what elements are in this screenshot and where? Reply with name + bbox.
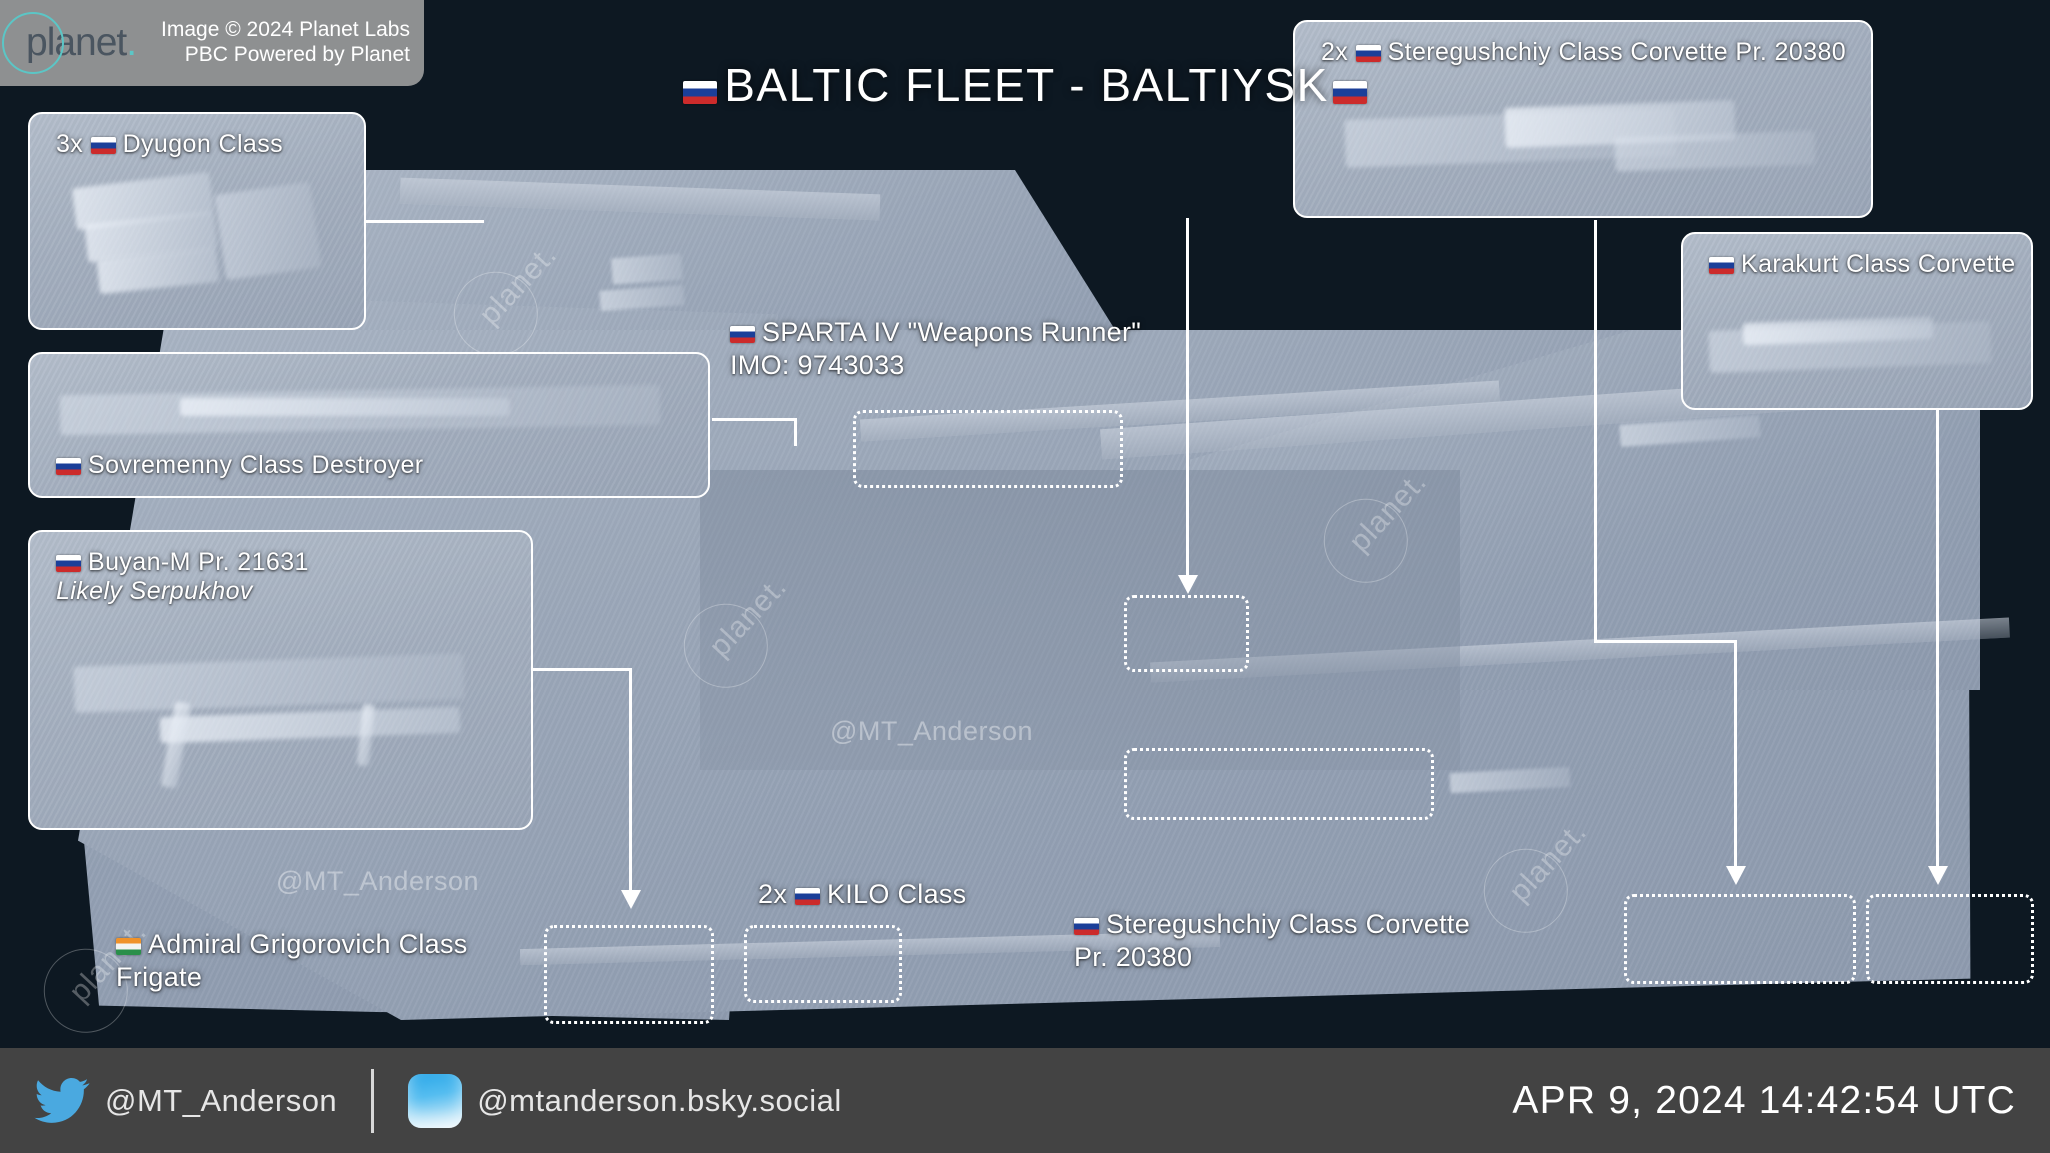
- ru-flag-icon: [795, 888, 820, 905]
- twitter-handle: @MT_Anderson: [105, 1083, 337, 1119]
- inset-vessel: [160, 707, 461, 743]
- leader-line-sovremenny: [712, 418, 796, 421]
- callout-label-buyan-m: Buyan-M Pr. 21631 Likely Serpukhov: [56, 548, 309, 606]
- arrow-head-karakurt-b: [1928, 866, 1948, 885]
- twitter-account[interactable]: @MT_Anderson: [34, 1078, 337, 1124]
- callout-name: Sovremenny Class Destroyer: [88, 451, 424, 479]
- leader-line-karakurt: [1594, 640, 1736, 643]
- arrow-head-buyan-m: [621, 890, 641, 909]
- inset-vessel: [73, 653, 464, 713]
- callout-karakurt[interactable]: Karakurt Class Corvette: [1681, 232, 2033, 410]
- map-label-line-1: Admiral Grigorovich Class: [116, 928, 468, 961]
- ru-flag-icon: [56, 458, 81, 475]
- target-box-steregushchiy-lower: [1124, 748, 1434, 820]
- bluesky-account[interactable]: @mtanderson.bsky.social: [408, 1074, 842, 1128]
- leader-line-sovremenny: [794, 418, 797, 446]
- callout-buyan-m[interactable]: Buyan-M Pr. 21631 Likely Serpukhov: [28, 530, 533, 830]
- page-title-text: BALTIC FLEET - BALTIYSK: [724, 59, 1329, 111]
- ru-flag-icon: [730, 326, 755, 343]
- leader-line-karakurt: [1594, 220, 1597, 640]
- leader-line-dyugon: [360, 220, 484, 223]
- leader-line-karakurt: [1734, 640, 1737, 874]
- target-box-kilo: [744, 925, 902, 1003]
- inset-vessel: [214, 182, 321, 281]
- leader-line-karakurt-b: [1936, 400, 1939, 874]
- callout-count: 3x: [56, 130, 83, 158]
- ru-flag-icon: [56, 555, 81, 572]
- map-label-line-2: Frigate: [116, 961, 468, 994]
- planet-logo: planet.: [26, 21, 136, 65]
- twitter-icon: [34, 1078, 90, 1124]
- target-box-buyan-m: [544, 925, 714, 1024]
- leader-line-buyan-m: [533, 668, 631, 671]
- ru-flag-icon: [91, 137, 116, 154]
- target-box-corvette-right-a: [1624, 894, 1856, 984]
- inset-vessel: [180, 398, 510, 416]
- map-label-kilo: 2x KILO Class: [758, 878, 966, 911]
- ru-flag-icon: [1074, 918, 1099, 935]
- planet-attribution-badge: planet. Image © 2024 Planet Labs PBC Pow…: [0, 0, 424, 86]
- capture-timestamp: APR 9, 2024 14:42:54 UTC: [1512, 1079, 2016, 1123]
- arrow-head-steregushchiy-top: [1178, 575, 1198, 594]
- callout-name: Buyan-M Pr. 21631: [88, 548, 309, 576]
- target-box-steregushchiy-upper: [1124, 595, 1249, 672]
- map-label-steregushchiy: Steregushchiy Class Corvette Pr. 20380: [1074, 908, 1470, 974]
- callout-label-dyugon: 3x Dyugon Class: [56, 130, 283, 159]
- map-label-line-1: SPARTA IV "Weapons Runner": [730, 316, 1141, 349]
- target-box-sparta-iv: [853, 410, 1123, 488]
- in-flag-icon: [116, 938, 141, 955]
- target-box-corvette-right-b: [1866, 894, 2034, 984]
- callout-subtitle: Likely Serpukhov: [56, 577, 309, 606]
- harbor-basin: [700, 470, 1460, 770]
- callout-sovremenny[interactable]: Sovremenny Class Destroyer: [28, 352, 710, 498]
- leader-line-steregushchiy-top: [1186, 218, 1189, 584]
- map-label-line-2: Pr. 20380: [1074, 941, 1470, 974]
- inset-vessel: [1614, 131, 1815, 172]
- callout-label-karakurt: Karakurt Class Corvette: [1709, 250, 2016, 279]
- ru-flag-icon: [1333, 81, 1367, 104]
- planet-credit-text: Image © 2024 Planet Labs PBC Powered by …: [150, 18, 410, 67]
- callout-steregushchiy-top[interactable]: 2x Steregushchiy Class Corvette Pr. 2038…: [1293, 20, 1873, 218]
- planet-logo-ring: [2, 12, 64, 74]
- bluesky-handle: @mtanderson.bsky.social: [477, 1083, 842, 1119]
- callout-name: Karakurt Class Corvette: [1741, 250, 2016, 278]
- planet-logo-dot: .: [126, 21, 136, 64]
- callout-label-sovremenny: Sovremenny Class Destroyer: [56, 451, 424, 480]
- map-label-admiral-grigorovich: Admiral Grigorovich Class Frigate: [116, 928, 468, 994]
- map-label-line-1: 2x KILO Class: [758, 878, 966, 911]
- arrow-head-karakurt: [1726, 866, 1746, 885]
- map-label-line-2: IMO: 9743033: [730, 349, 1141, 382]
- annotated-satellite-graphic: planet. planet. planet. planet. planet. …: [0, 0, 2050, 1153]
- base-vessel-mark: [611, 254, 683, 285]
- bluesky-icon: [408, 1074, 462, 1128]
- footer-divider: [371, 1069, 374, 1133]
- ru-flag-icon: [683, 81, 717, 104]
- leader-line-buyan-m: [629, 668, 632, 898]
- map-label-line-1: Steregushchiy Class Corvette: [1074, 908, 1470, 941]
- footer-bar: @MT_Anderson @mtanderson.bsky.social APR…: [0, 1048, 2050, 1153]
- callout-name: Dyugon Class: [123, 130, 283, 158]
- callout-dyugon[interactable]: 3x Dyugon Class: [28, 112, 366, 330]
- inset-vessel: [161, 701, 192, 788]
- ru-flag-icon: [1709, 257, 1734, 274]
- map-label-sparta-iv: SPARTA IV "Weapons Runner" IMO: 9743033: [730, 316, 1141, 382]
